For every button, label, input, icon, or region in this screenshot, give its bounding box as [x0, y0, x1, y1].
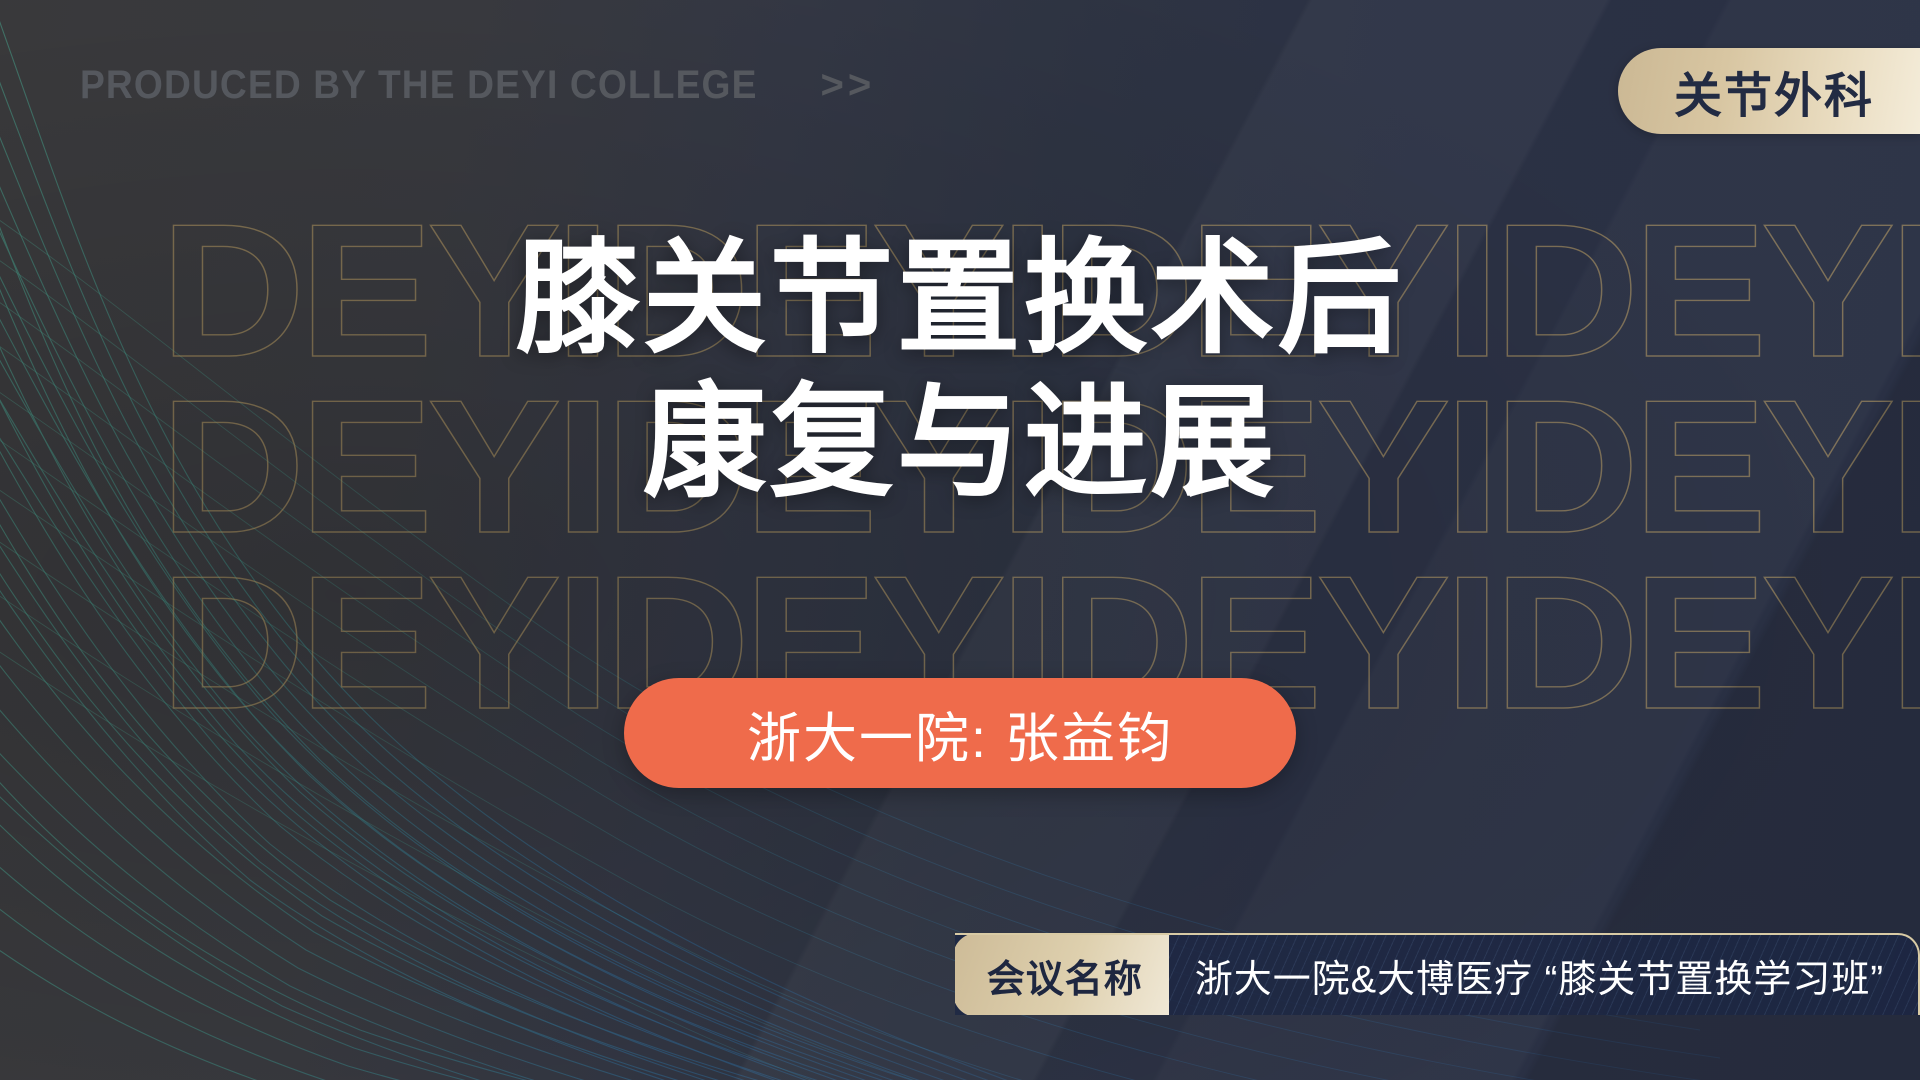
speaker-pill: 浙大一院: 张益钧 [624, 678, 1296, 788]
conference-label-chip: 会议名称 [955, 933, 1169, 1015]
department-badge: 关节外科 [1618, 48, 1920, 134]
background-base [0, 0, 1920, 1080]
speaker-label: 浙大一院: 张益钧 [747, 694, 1173, 773]
produced-by-header: PRODUCED BY THE DEYI COLLEGE >> [80, 63, 889, 108]
double-chevron-right-icon: >> [821, 63, 876, 108]
conference-label-text: 会议名称 [987, 948, 1143, 1003]
conference-bar: 会议名称 浙大一院&大博医疗 “膝关节置换学习班” [955, 933, 1920, 1015]
title-line-1: 膝关节置换术后 [0, 228, 1920, 372]
slide-canvas: DEYIDEYIDEYIDEYI DEYIDEYIDEYIDEYI DEYIDE… [0, 0, 1920, 1080]
conference-value-text: 浙大一院&大博医疗 “膝关节置换学习班” [1195, 948, 1884, 1003]
main-title: 膝关节置换术后 康复与进展 [0, 228, 1920, 516]
conference-value-area: 浙大一院&大博医疗 “膝关节置换学习班” [1169, 935, 1918, 1015]
department-badge-label: 关节外科 [1674, 56, 1874, 126]
title-line-2: 康复与进展 [0, 372, 1920, 516]
produced-by-text: PRODUCED BY THE DEYI COLLEGE [80, 63, 758, 108]
